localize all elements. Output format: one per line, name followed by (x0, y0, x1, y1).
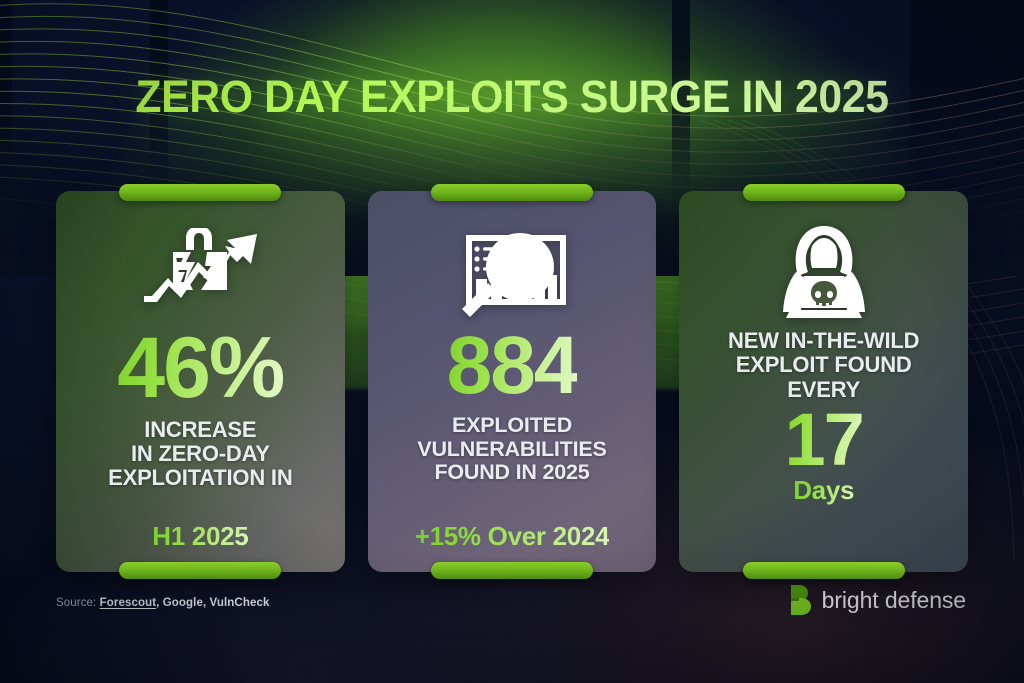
bug-magnifier-bar-chart-icon (448, 225, 576, 321)
source-link-forescout[interactable]: Forescout (100, 597, 157, 609)
stat-subnote: +15% Over 2024 (415, 521, 610, 552)
card-top-pill (743, 184, 905, 201)
card-bottom-pill (119, 562, 281, 579)
card-top-pill (119, 184, 281, 201)
source-other-names: , Google, VulnCheck (156, 597, 269, 609)
source-citation: Source: Forescout, Google, VulnCheck (56, 597, 269, 609)
hooded-hacker-laptop-skull-icon (768, 225, 880, 321)
stat-subnote: Days (793, 475, 854, 510)
brand-logo-text: bright defense (822, 587, 966, 614)
stat-value: 17 (785, 404, 863, 475)
card-bottom-pill (431, 562, 593, 579)
stat-subnote: H1 2025 (152, 521, 248, 552)
source-label: Source: (56, 597, 96, 609)
stat-description: EXPLOITED VULNERABILITIES FOUND IN 2025 (417, 414, 606, 486)
stat-card-exploit-frequency: NEW IN-THE-WILD EXPLOIT FOUND EVERY 17 D… (679, 191, 968, 572)
infographic-canvas: ZERO DAY EXPLOITS SURGE IN 2025 46% INCR… (0, 0, 1024, 683)
stat-card-exploited-vulnerabilities: 884 EXPLOITED VULNERABILITIES FOUND IN 2… (368, 191, 657, 572)
stat-value: 884 (447, 327, 578, 406)
broken-padlock-rising-chart-icon (139, 225, 261, 321)
card-bottom-pill (743, 562, 905, 579)
page-title: ZERO DAY EXPLOITS SURGE IN 2025 (26, 74, 999, 119)
stat-description: INCREASE IN ZERO-DAY EXPLOITATION IN (108, 418, 292, 491)
stat-card-zero-day-increase: 46% INCREASE IN ZERO-DAY EXPLOITATION IN… (56, 191, 345, 572)
stat-card-group: 46% INCREASE IN ZERO-DAY EXPLOITATION IN… (56, 191, 968, 572)
card-top-pill (431, 184, 593, 201)
stat-description: NEW IN-THE-WILD EXPLOIT FOUND EVERY (728, 329, 919, 402)
stat-value: 46% (117, 327, 283, 410)
bright-defense-b-mark-icon (790, 585, 812, 615)
brand-logo[interactable]: bright defense (790, 585, 966, 615)
